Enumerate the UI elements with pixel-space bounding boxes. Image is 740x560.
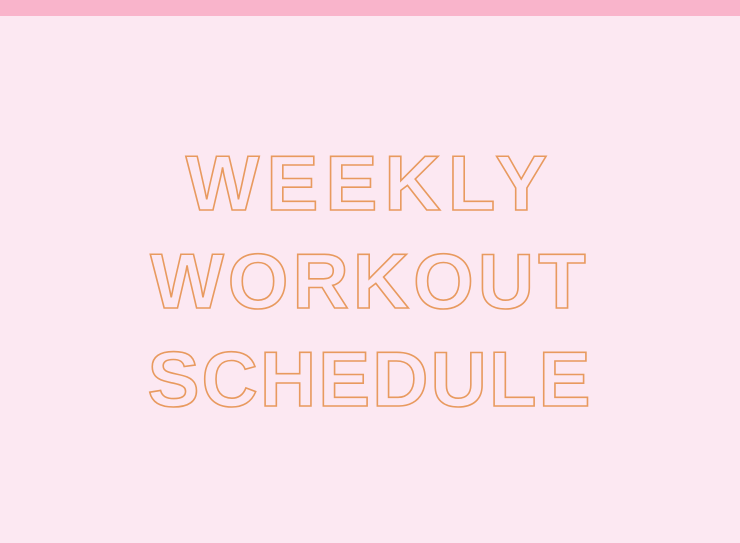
top-border-band — [0, 0, 740, 16]
title-artwork: WEEKLY WORKOUT SCHEDULE — [70, 140, 670, 420]
poster-canvas: WEEKLY WORKOUT SCHEDULE WEEKLY WORKOUT S… — [0, 0, 740, 560]
title-stage: WEEKLY WORKOUT SCHEDULE WEEKLY WORKOUT S… — [0, 16, 740, 543]
title-line-2: WORKOUT — [150, 237, 590, 325]
bottom-border-band — [0, 543, 740, 560]
title-line-3: SCHEDULE — [147, 335, 592, 423]
title-line-1: WEEKLY — [186, 139, 555, 227]
